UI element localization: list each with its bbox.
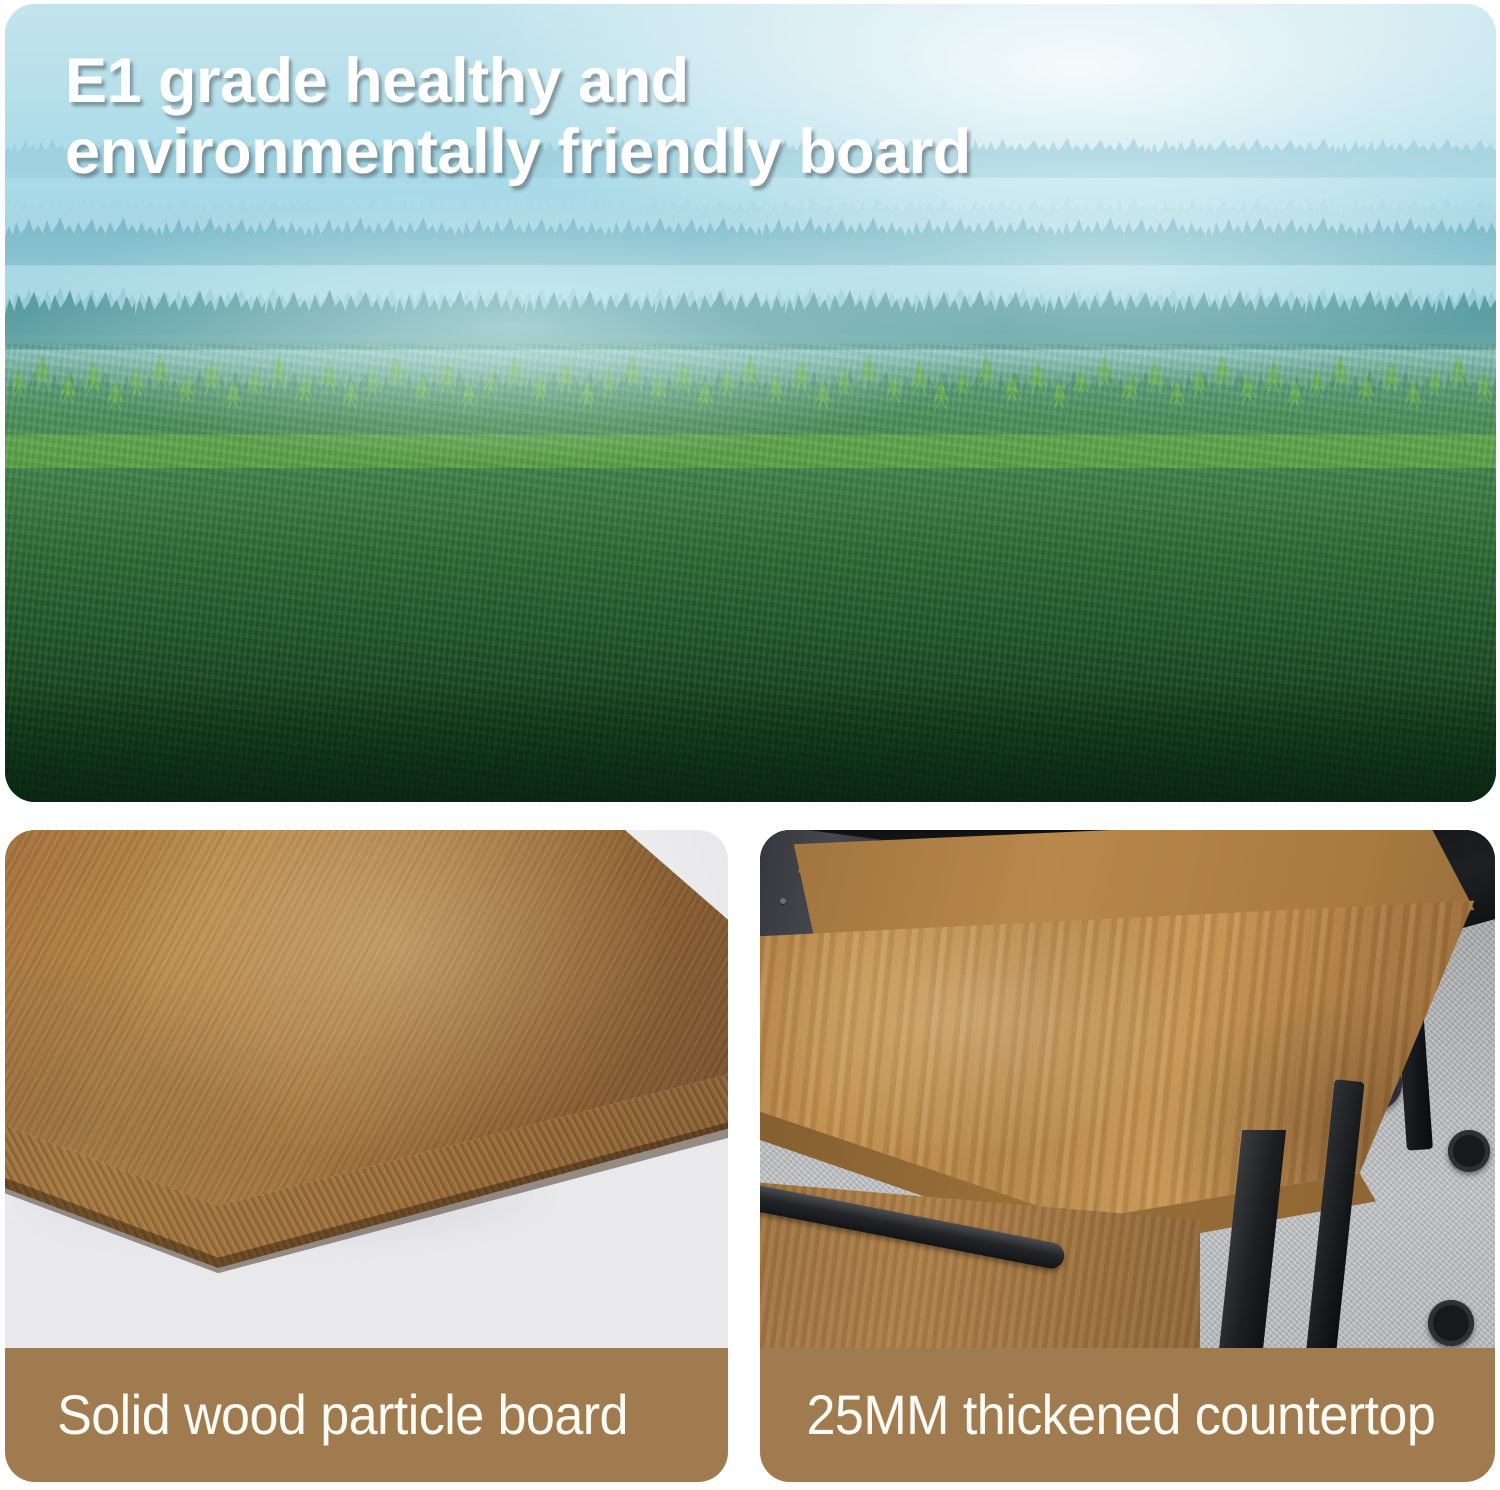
particle-board-photo xyxy=(5,830,728,1350)
caption-label: Solid wood particle board xyxy=(5,1387,628,1443)
caption-bar-countertop: 25MM thickened countertop xyxy=(760,1348,1495,1482)
feature-card-countertop[interactable]: 25MM thickened countertop xyxy=(760,830,1495,1482)
countertop-photo xyxy=(760,830,1495,1350)
feature-card-row: Solid wood particle board xyxy=(5,830,1495,1482)
board-top-highlight xyxy=(5,830,728,1320)
caster-wheel xyxy=(1428,1300,1474,1346)
hero-headline: E1 grade healthy and environmentally fri… xyxy=(65,46,1165,187)
caption-bar-particle-board: Solid wood particle board xyxy=(5,1348,728,1482)
product-feature-graphic: E1 grade healthy and environmentally fri… xyxy=(0,0,1500,1490)
foliage-texture xyxy=(5,344,1496,802)
feature-card-particle-board[interactable]: Solid wood particle board xyxy=(5,830,728,1482)
caption-label: 25MM thickened countertop xyxy=(760,1387,1435,1443)
caster-wheel xyxy=(1448,1130,1490,1172)
wood-board xyxy=(5,830,728,1320)
hero-panel: E1 grade healthy and environmentally fri… xyxy=(5,4,1496,802)
desk-scene xyxy=(760,830,1495,1350)
